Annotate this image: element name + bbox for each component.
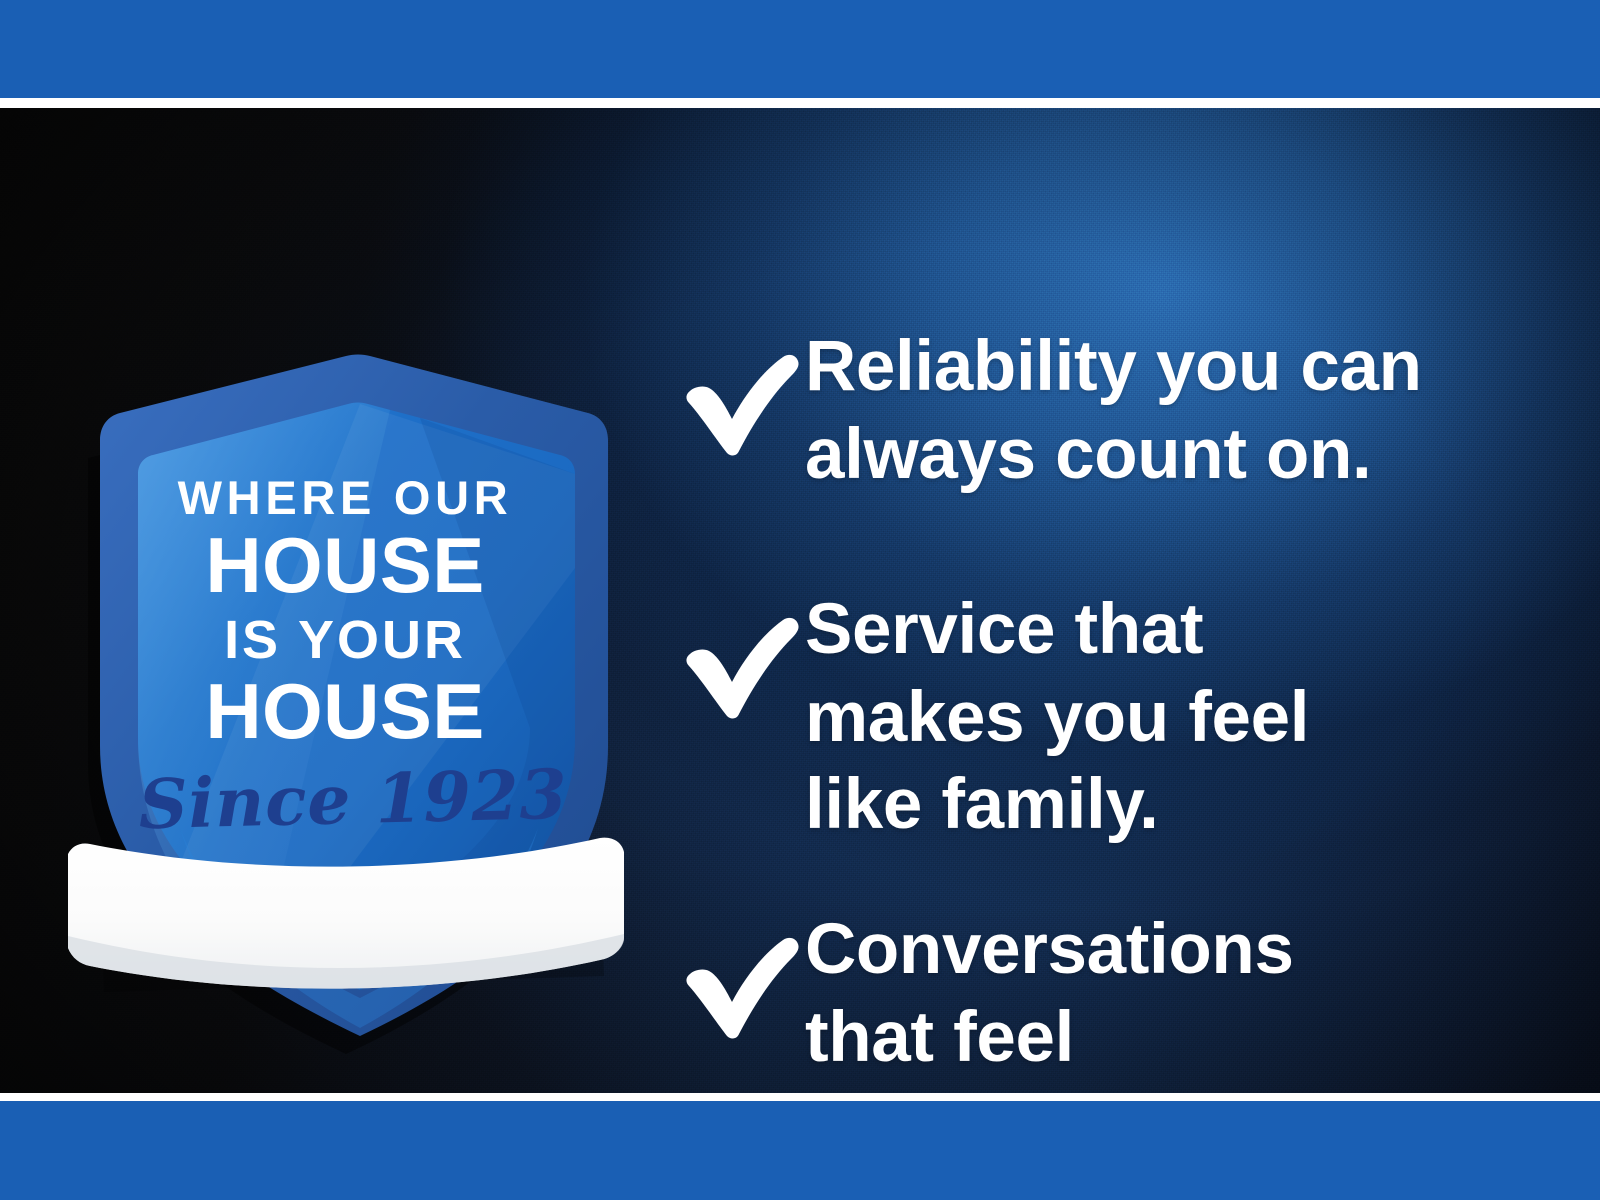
list-item: Reliability you can always count on. bbox=[660, 323, 1520, 498]
top-brand-bar bbox=[0, 0, 1600, 98]
list-item: Conversations that feel like home. bbox=[660, 906, 1520, 1093]
shield-badge: WHERE OUR HOUSE IS YOUR HOUSE Since 1923 bbox=[60, 268, 630, 1058]
list-item: Service that makes you feel like family. bbox=[660, 586, 1520, 849]
promo-poster: WHERE OUR HOUSE IS YOUR HOUSE Since 1923… bbox=[0, 0, 1600, 1200]
list-item-text: Reliability you can always count on. bbox=[805, 323, 1520, 498]
checkmark-icon bbox=[660, 916, 805, 1041]
list-item-text: Service that makes you feel like family. bbox=[805, 586, 1520, 849]
checkmark-icon bbox=[660, 596, 805, 721]
list-item-text: Conversations that feel like home. bbox=[805, 906, 1520, 1093]
shield-graphic bbox=[60, 268, 630, 1058]
bottom-brand-bar bbox=[0, 1101, 1600, 1200]
checkmark-icon bbox=[660, 333, 805, 458]
benefits-list: Reliability you can always count on. Ser… bbox=[660, 228, 1520, 1093]
main-canvas: WHERE OUR HOUSE IS YOUR HOUSE Since 1923… bbox=[0, 108, 1600, 1093]
